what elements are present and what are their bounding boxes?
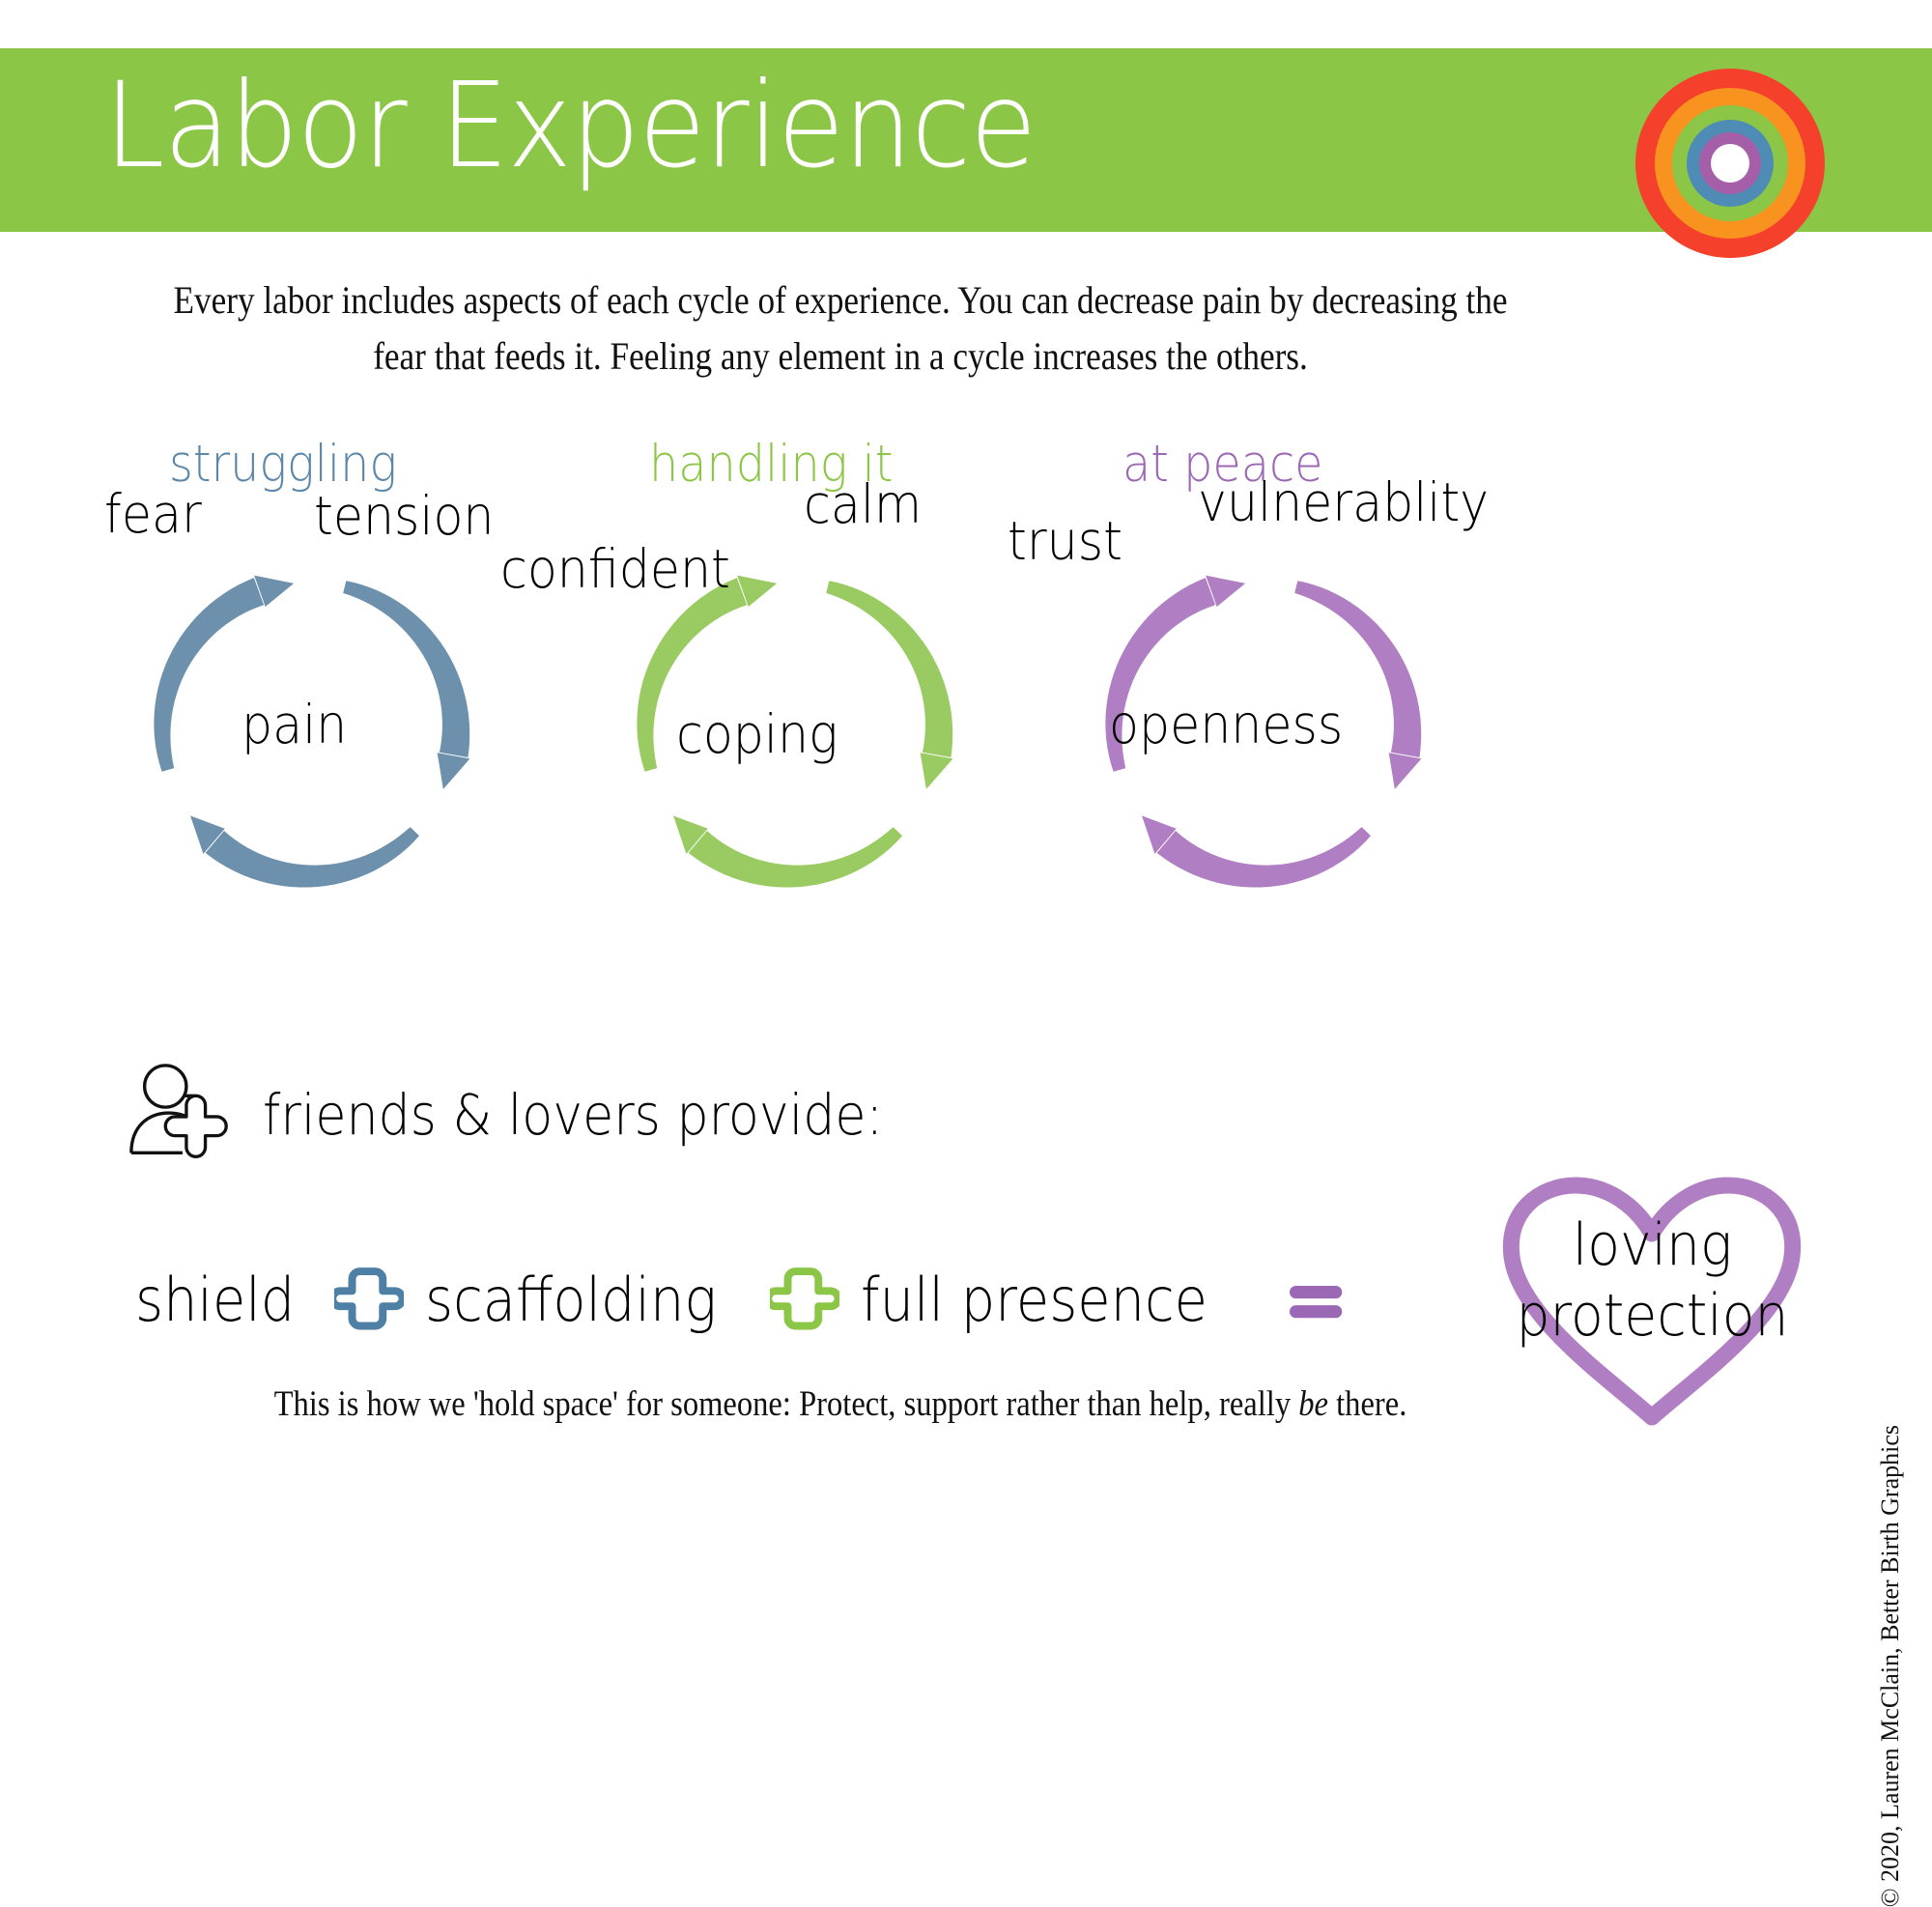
add-person-icon — [124, 1058, 238, 1172]
cycle-label-vulnerablity: vulnerablity — [1198, 471, 1489, 533]
cycle-label-openness: openness — [1109, 694, 1343, 755]
cycle-arrow-head — [438, 753, 470, 789]
cycle-arrow-head — [921, 753, 953, 789]
footer-note-prefix: This is how we 'hold space' for someone:… — [274, 1384, 1299, 1424]
cycle-label-coping: coping — [676, 703, 838, 765]
providers-row: friends & lovers provide: — [124, 1058, 952, 1172]
equation-row: shield scaffolding full presence — [135, 1246, 1350, 1352]
cycle-label-pain: pain — [241, 694, 347, 755]
copyright-note: © 2020, Lauren McClain, Better Birth Gra… — [1876, 1425, 1905, 1907]
cycle-arrow-head — [1389, 753, 1422, 789]
result-line-2: protection — [1516, 1282, 1788, 1350]
equation-term-scaffolding: scaffolding — [425, 1265, 717, 1335]
cycle-arc-segment — [826, 581, 952, 757]
footer-note-italic: be — [1298, 1384, 1328, 1424]
equation-term-full-presence: full presence — [861, 1265, 1207, 1335]
loving-protection-group: loving protection — [1492, 1174, 1811, 1430]
rainbow-rings-logo — [1625, 58, 1835, 269]
page-title: Labor Experience — [104, 52, 1036, 200]
cycle-label-fear: fear — [104, 483, 202, 545]
providers-label: friends & lovers provide: — [263, 1082, 883, 1148]
cycle-label-tension: tension — [314, 485, 495, 547]
footer-note-suffix: there. — [1328, 1384, 1406, 1424]
cycle-label-confident: confident — [500, 538, 730, 600]
equation-term-shield: shield — [135, 1265, 295, 1335]
cycle-arc-segment — [1157, 827, 1371, 887]
cycle-label-calm: calm — [804, 473, 922, 535]
equals-icon — [1283, 1266, 1350, 1333]
cycle-label-trust: trust — [1008, 510, 1122, 572]
cycle-arc-segment — [343, 581, 469, 757]
footer-note: This is how we 'hold space' for someone:… — [160, 1383, 1520, 1425]
cycle-arc-segment — [689, 827, 902, 887]
intro-paragraph: Every labor includes aspects of each cyc… — [160, 272, 1520, 384]
cycle-arc-segment — [206, 827, 419, 887]
plus-icon-green — [770, 1265, 839, 1334]
result-line-1: loving — [1573, 1211, 1732, 1279]
plus-icon-blue — [334, 1265, 404, 1334]
loving-protection-label: loving protection — [1450, 1210, 1855, 1352]
